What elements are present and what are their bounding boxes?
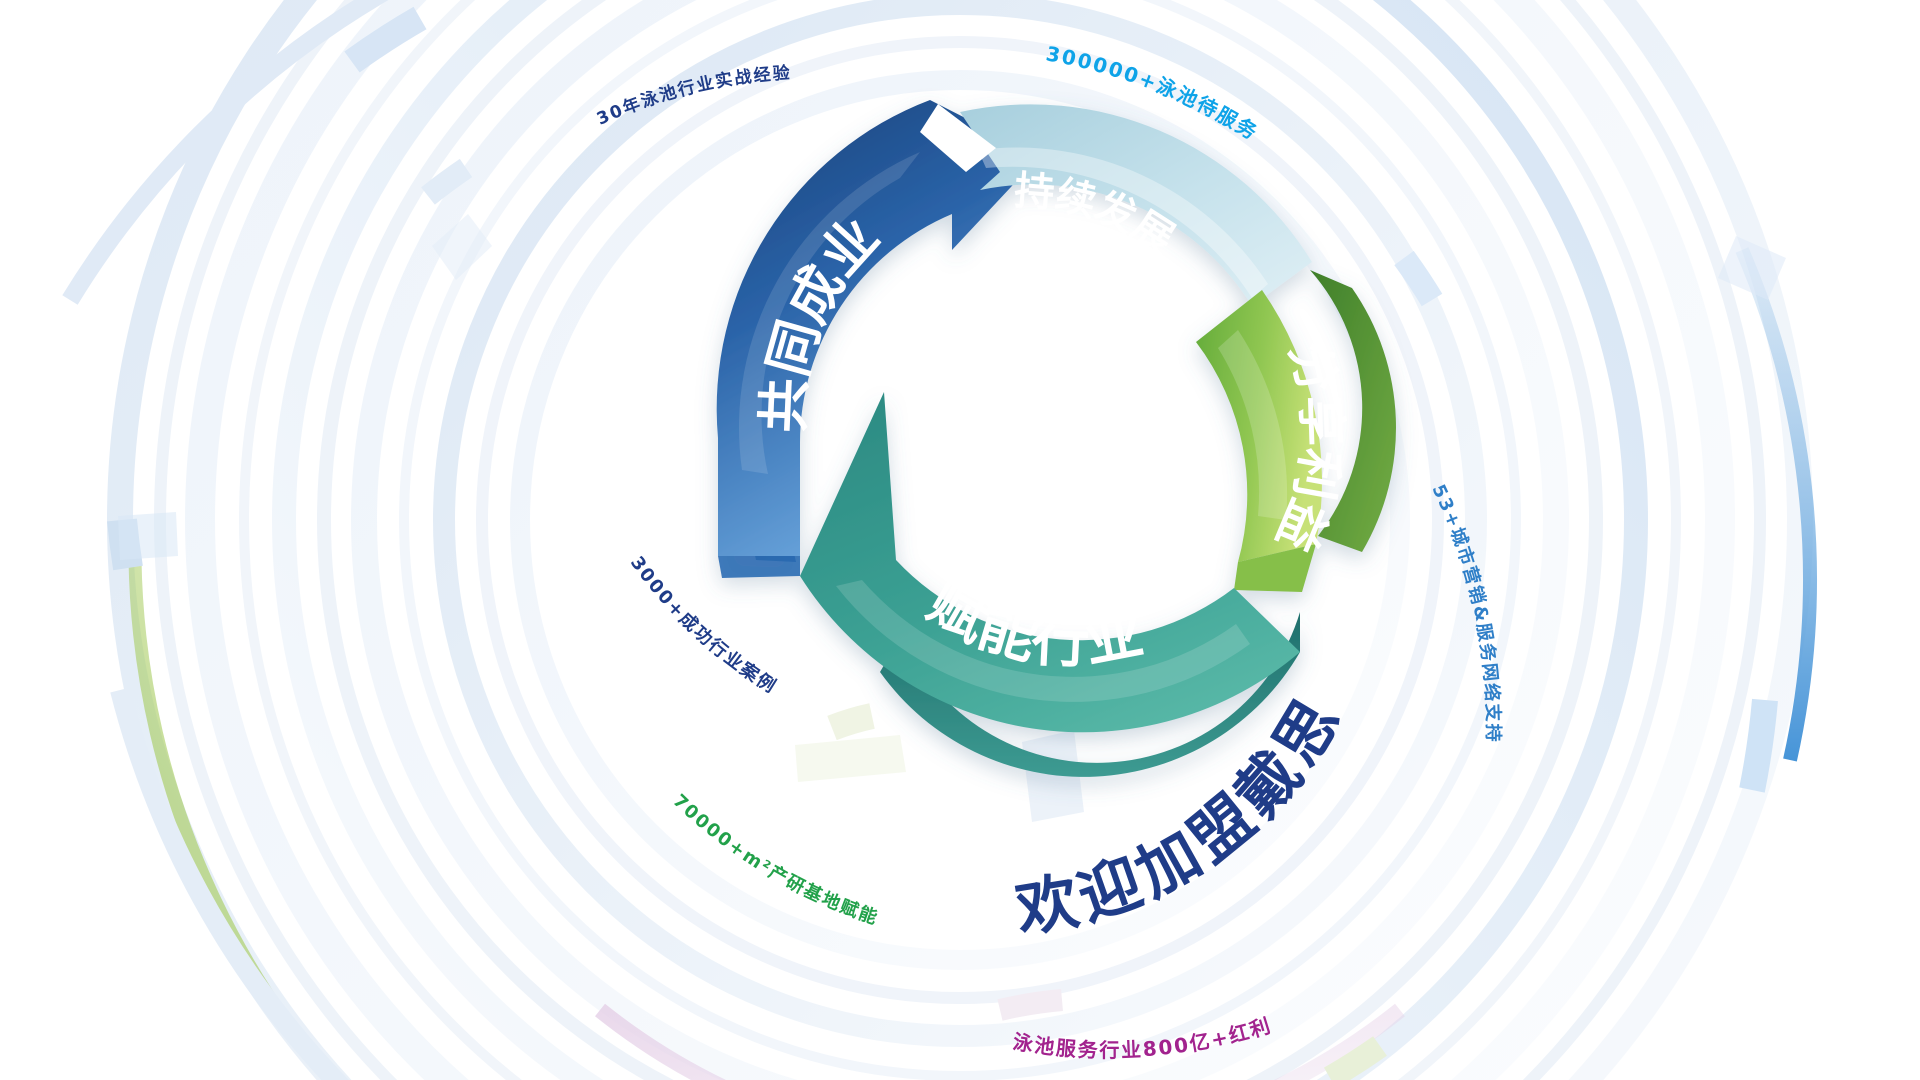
stat-experience: 30年泳池行业实战经验 bbox=[594, 62, 792, 129]
stat-cases: 3000+成功行业案例 bbox=[626, 553, 781, 699]
stat-market: 泳池服务行业800亿+红利 bbox=[1011, 1013, 1275, 1062]
stat-rnd: 70000+m²产研基地赋能 bbox=[669, 790, 882, 929]
stat-cities: 53+城市营销&服务网络支持 bbox=[1427, 481, 1504, 744]
annotation-text-layer: 30年泳池行业实战经验 300000+泳池待服务 53+城市营销&服务网络支持 … bbox=[0, 0, 1920, 1080]
poster-canvas: 共同成业 持续发展 分享利益 赋能行业 bbox=[0, 0, 1920, 1080]
stat-pools: 300000+泳池待服务 bbox=[1044, 41, 1263, 145]
